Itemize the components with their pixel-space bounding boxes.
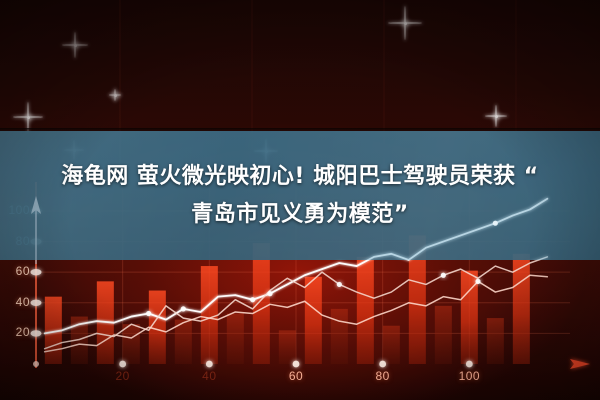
vignette-overlay xyxy=(0,0,600,400)
promo-banner-image: 2040608010020406080100 海龟网 萤火微光映初心! 城阳巴士… xyxy=(0,0,600,400)
